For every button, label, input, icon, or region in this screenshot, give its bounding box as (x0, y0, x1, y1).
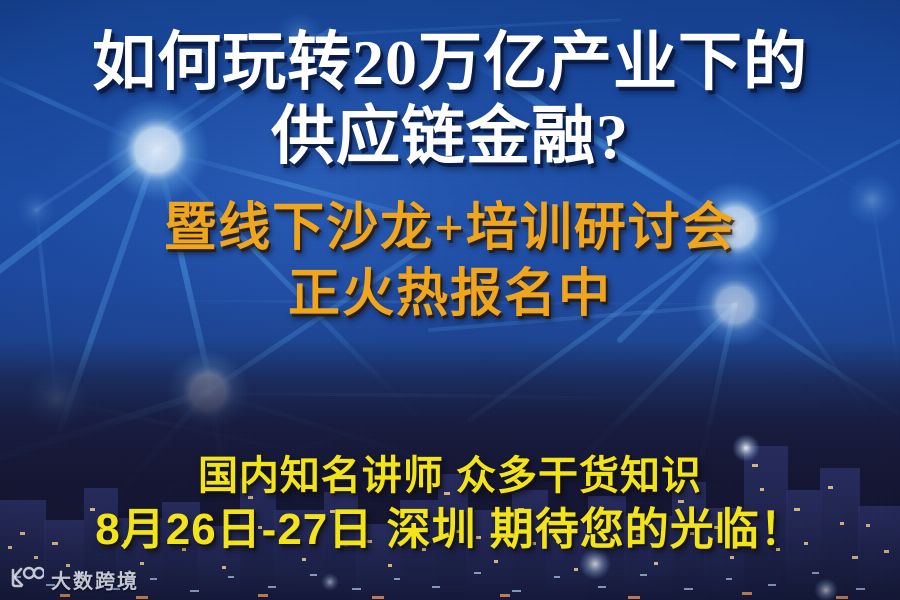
poster-content: 如何玩转20万亿产业下的 供应链金融? 暨线下沙龙+培训研讨会 正火热报名中 国… (0, 0, 900, 600)
event-detail-date-location: 8月26日-27日 深圳 期待您的光临！ (0, 502, 900, 558)
subheadline: 暨线下沙龙+培训研讨会 正火热报名中 (0, 196, 900, 328)
poster-banner: 如何玩转20万亿产业下的 供应链金融? 暨线下沙龙+培训研讨会 正火热报名中 国… (0, 0, 900, 600)
event-detail-speakers: 国内知名讲师 众多干货知识 (0, 450, 900, 502)
headline-line-1: 如何玩转20万亿产业下的 (0, 26, 900, 100)
headline-line-2: 供应链金融? (0, 100, 900, 174)
headline-title: 如何玩转20万亿产业下的 供应链金融? (0, 26, 900, 174)
subheadline-line-1: 暨线下沙龙+培训研讨会 (0, 196, 900, 262)
watermark-brand-text: 大数跨境 (51, 565, 139, 594)
event-details: 国内知名讲师 众多干货知识 8月26日-27日 深圳 期待您的光临！ (0, 450, 900, 558)
subheadline-line-2: 正火热报名中 (0, 262, 900, 328)
infinity-bird-logo-icon (10, 566, 44, 593)
watermark: 大数跨境 (10, 565, 139, 594)
